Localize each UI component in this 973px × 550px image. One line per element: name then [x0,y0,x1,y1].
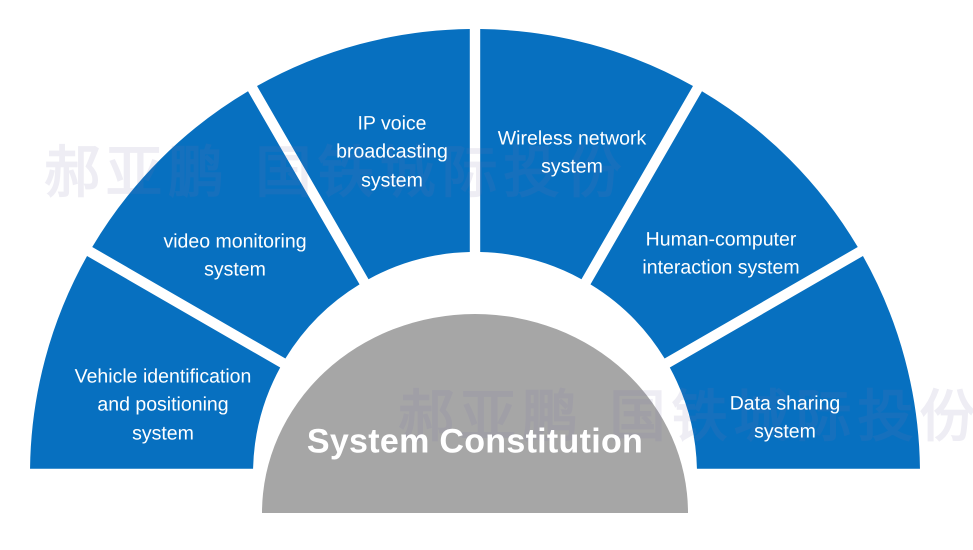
system-constitution-diagram: 郝亚鹏 国铁城际投份 郝亚鹏 国铁城际投份 System Constitutio… [0,0,973,550]
hub-title: System Constitution [307,423,643,462]
segment-label-line: interaction system [642,254,799,282]
segment-label-line: system [163,256,306,284]
segment-label-line: system [730,418,841,446]
segment-label-vehicle-identification-and-positioning-system: Vehicle identificationand positioningsys… [75,363,252,448]
segment-label-line: broadcasting [336,138,448,166]
segment-label-data-sharing-system: Data sharingsystem [730,390,841,447]
segment-label-line: IP voice [336,110,448,138]
segment-label-line: Wireless network [498,125,646,153]
segment-label-line: system [75,419,252,447]
segment-label-human-computer-interaction-system: Human-computerinteraction system [642,226,799,283]
segment-label-line: video monitoring [163,228,306,256]
segment-label-line: system [498,153,646,181]
segment-label-line: and positioning [75,391,252,419]
segment-label-line: Data sharing [730,390,841,418]
segment-label-line: Human-computer [642,226,799,254]
segment-label-video-monitoring-system: video monitoringsystem [163,228,306,285]
label-layer: System Constitution Vehicle identificati… [0,0,973,550]
segment-label-wireless-network-system: Wireless networksystem [498,125,646,182]
segment-label-line: Vehicle identification [75,363,252,391]
segment-label-ip-voice-broadcasting-system: IP voicebroadcastingsystem [336,110,448,195]
segment-label-line: system [336,166,448,194]
